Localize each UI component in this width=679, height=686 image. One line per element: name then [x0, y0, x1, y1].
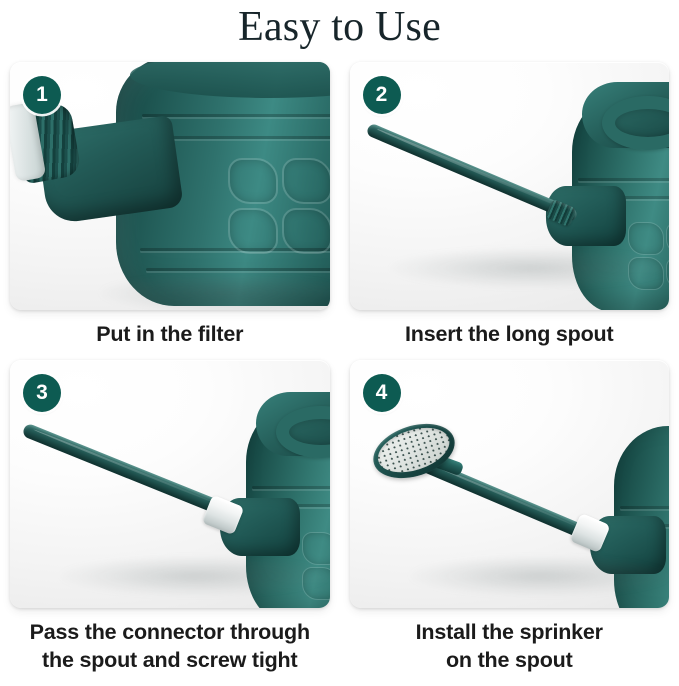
caption-line: Put in the filter — [2, 320, 338, 348]
can-embossed-flower — [228, 158, 330, 254]
flower-petal — [302, 532, 330, 565]
flower-petal — [666, 257, 670, 290]
step-photo-panel-1: 1 — [10, 62, 330, 310]
long-spout — [21, 423, 234, 520]
flower-petal — [282, 208, 330, 254]
step-caption-1: Put in the filter — [0, 320, 340, 348]
step-badge-2: 2 — [363, 76, 401, 114]
product-ground-shadow — [390, 248, 670, 288]
flower-petal — [228, 158, 278, 204]
flower-petal — [666, 222, 670, 255]
caption-line: the spout and screw tight — [2, 646, 338, 674]
step-caption-4: Install the sprinker on the spout — [340, 618, 679, 674]
product-ground-shadow — [410, 556, 670, 596]
caption-line: Insert the long spout — [342, 320, 678, 348]
step-cell-2: 2 Insert the long spout — [340, 62, 679, 360]
step-badge-4: 4 — [363, 374, 401, 412]
steps-grid: 1 Put in the filter — [0, 62, 679, 686]
step-cell-4: 4 Install the sprinker on the spout — [340, 360, 679, 686]
product-ground-shadow — [100, 274, 330, 310]
caption-line: Install the sprinker — [342, 618, 678, 646]
step-cell-1: 1 Put in the filter — [0, 62, 340, 360]
step-badge-1: 1 — [23, 76, 61, 114]
infographic-page: Easy to Use — [0, 0, 679, 686]
flower-petal — [228, 208, 278, 254]
caption-line: on the spout — [342, 646, 678, 674]
step-photo-panel-4: 4 — [350, 360, 670, 608]
can-groove — [252, 486, 330, 489]
step-caption-3: Pass the connector through the spout and… — [0, 618, 340, 674]
flower-petal — [282, 158, 330, 204]
step-caption-2: Insert the long spout — [340, 320, 679, 348]
product-ground-shadow — [60, 556, 330, 596]
caption-line: Pass the connector through — [2, 618, 338, 646]
can-groove — [620, 506, 670, 509]
can-groove — [146, 268, 330, 271]
long-spout — [365, 123, 578, 223]
step-badge-3: 3 — [23, 374, 61, 412]
step-cell-3: 3 Pass the connector through the spout a… — [0, 360, 340, 686]
step-photo-panel-2: 2 — [350, 62, 670, 310]
can-groove — [142, 114, 330, 117]
step-photo-panel-3: 3 — [10, 360, 330, 608]
page-title: Easy to Use — [0, 2, 679, 52]
flower-petal — [628, 222, 664, 255]
can-groove — [578, 178, 670, 181]
